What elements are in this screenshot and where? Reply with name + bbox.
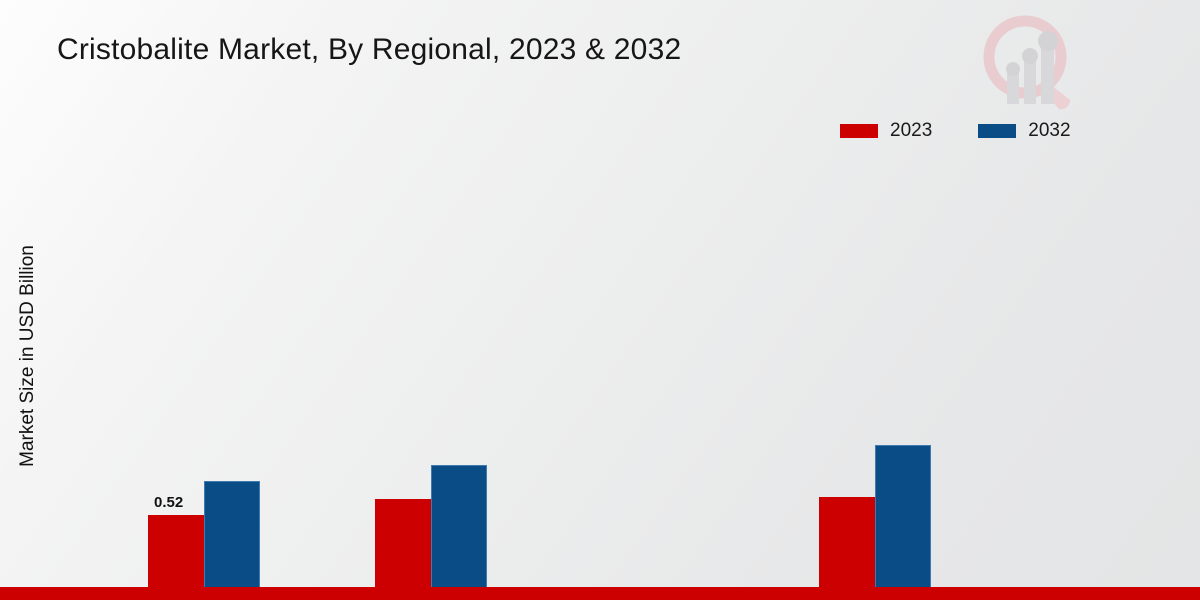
bar-group [1046, 150, 1158, 468]
bar-2023[interactable] [375, 499, 431, 600]
chart-title: Cristobalite Market, By Regional, 2023 &… [57, 33, 681, 67]
bar-group [819, 150, 931, 468]
bar-2032[interactable] [875, 445, 931, 600]
bottom-accent-strip [0, 587, 1200, 600]
bar-group [592, 150, 704, 468]
bar-2032[interactable] [204, 481, 260, 600]
legend-swatch-2032 [978, 124, 1016, 138]
bar-2023[interactable] [819, 497, 875, 600]
bar-data-label: 0.52 [154, 494, 183, 511]
legend-item-2032[interactable]: 2032 [978, 120, 1070, 142]
legend-item-2023[interactable]: 2023 [840, 120, 932, 142]
chart-legend: 2023 2032 [840, 120, 1071, 142]
watermark-logo-icon [975, 12, 1085, 112]
chart-canvas: Cristobalite Market, By Regional, 2023 &… [0, 0, 1200, 600]
y-axis-title: Market Size in USD Billion [17, 176, 39, 536]
legend-swatch-2023 [840, 124, 878, 138]
bar-group [148, 150, 260, 468]
bar-2032[interactable] [431, 465, 487, 600]
legend-label-2023: 2023 [890, 120, 932, 142]
plot-area: NORTHAMERICAEUROPESOUTHAMERICAASIAPACIFI… [40, 150, 1200, 468]
legend-label-2032: 2032 [1028, 120, 1070, 142]
bar-group [375, 150, 487, 468]
